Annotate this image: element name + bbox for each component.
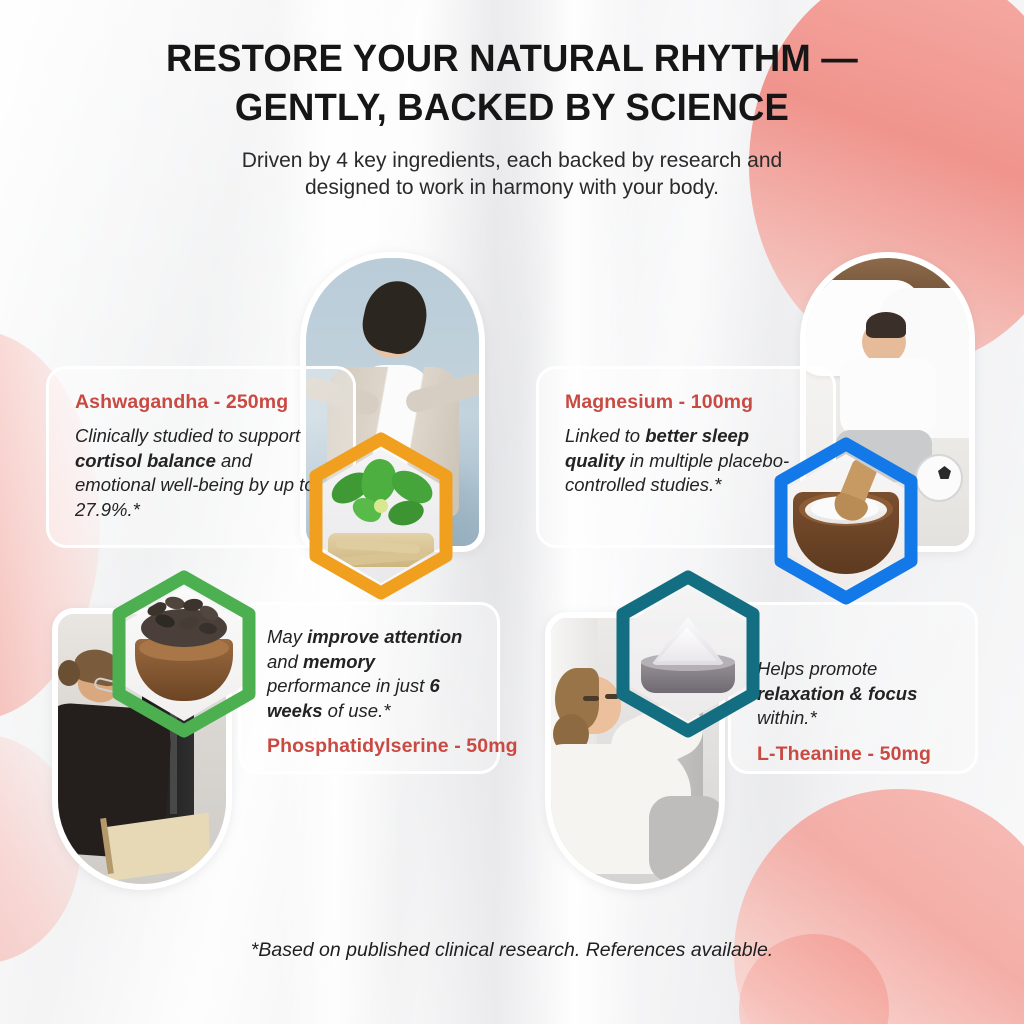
ingredient-body-phosphatidylserine: May improve attention and memory perform…	[267, 625, 481, 723]
infographic-canvas: RESTORE YOUR NATURAL RHYTHM — GENTLY, BA…	[0, 0, 1024, 1024]
header-block: RESTORE YOUR NATURAL RHYTHM — GENTLY, BA…	[0, 38, 1024, 202]
subtitle-line-2: designed to work in harmony with your bo…	[117, 174, 907, 202]
ingredient-title-magnesium: Magnesium - 100mg	[565, 391, 811, 414]
ingredient-title-ashwagandha: Ashwagandha - 250mg	[75, 391, 331, 414]
hexagon-outline	[305, 432, 457, 600]
subtitle-line-1: Driven by 4 key ingredients, each backed…	[117, 147, 907, 175]
text-panel-phosphatidylserine: May improve attention and memory perform…	[238, 602, 500, 774]
subtitle-block: Driven by 4 key ingredients, each backed…	[117, 147, 907, 202]
ingredient-body-ashwagandha: Clinically studied to support cortisol b…	[75, 424, 331, 522]
magnesium-powder-bowl-icon	[770, 437, 922, 605]
hexagon-outline	[108, 570, 260, 738]
ashwagandha-root-icon	[305, 432, 457, 600]
ingredient-body-ltheanine: Helps promote relaxation & focus within.…	[757, 657, 961, 731]
hexagon-outline	[770, 437, 922, 605]
l-theanine-powder-dish-icon	[612, 570, 764, 738]
headline-line-1: RESTORE YOUR NATURAL RHYTHM —	[20, 38, 1003, 81]
footer-disclaimer: *Based on published clinical research. R…	[0, 939, 1024, 962]
ingredient-title-phosphatidylserine: Phosphatidylserine - 50mg	[267, 735, 481, 758]
text-panel-ltheanine: Helps promote relaxation & focus within.…	[728, 602, 978, 774]
headline-line-2: GENTLY, BACKED BY SCIENCE	[20, 87, 1003, 130]
hexagon-outline	[612, 570, 764, 738]
ingredient-title-ltheanine: L-Theanine - 50mg	[757, 743, 961, 766]
sunflower-seeds-bowl-icon	[108, 570, 260, 738]
